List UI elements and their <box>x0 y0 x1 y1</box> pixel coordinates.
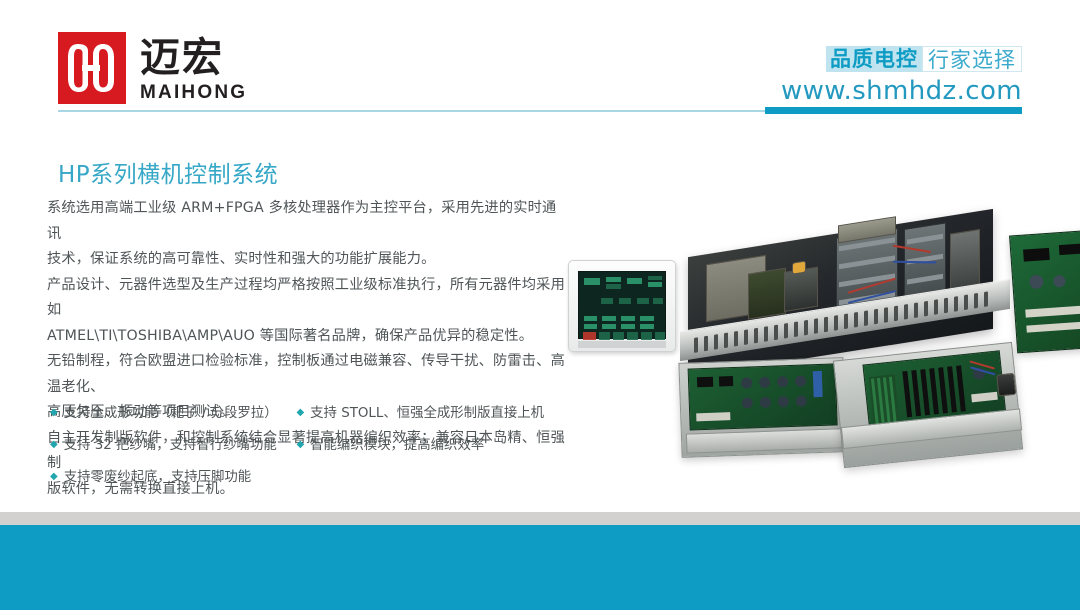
brand-logo: 迈宏 MAIHONG <box>58 32 247 104</box>
brand-tagline: 品质电控 行家选择 <box>781 46 1022 72</box>
feature-list: ◆支持全成形功能（耙子 / 分段罗拉） ◆支持 32 把纱嘴，支持智行纱嘴功能 … <box>50 397 570 493</box>
driver-board-module <box>678 357 846 458</box>
brand-logo-text: 迈宏 MAIHONG <box>140 32 247 104</box>
feature-label: 智能编织模块，提高编织效率 <box>310 438 484 453</box>
header-brand-banner: 品质电控 行家选择 www.shmhdz.com <box>781 46 1022 106</box>
feature-item: ◆支持 STOLL、恒强全成形制版直接上机 <box>296 397 566 429</box>
tagline-secondary: 行家选择 <box>922 46 1022 72</box>
feature-column-right: ◆支持 STOLL、恒强全成形制版直接上机 ◆智能编织模块，提高编织效率 <box>296 397 566 461</box>
diamond-bullet-icon: ◆ <box>50 471 58 482</box>
lcd-screen <box>578 271 666 339</box>
page-header: 迈宏 MAIHONG 品质电控 行家选择 www.shmhdz.com <box>0 0 1080 118</box>
feature-label: 支持零废纱起底，支持压脚功能 <box>64 470 251 485</box>
io-board-module <box>833 342 1023 468</box>
description-line: 技术，保证系统的高可靠性、实时性和强大的功能扩展能力。 <box>47 247 567 273</box>
diamond-bullet-icon: ◆ <box>50 439 58 450</box>
description-line: 系统选用高端工业级 ARM+FPGA 多核处理器作为主控平台，采用先进的实时通讯 <box>47 196 567 247</box>
page-title: HP系列横机控制系统 <box>58 155 278 189</box>
diamond-bullet-icon: ◆ <box>50 407 58 418</box>
feature-label: 支持全成形功能（耙子 / 分段罗拉） <box>64 406 278 421</box>
feature-label: 支持 32 把纱嘴，支持智行纱嘴功能 <box>64 438 277 453</box>
product-photo-group <box>555 185 1055 490</box>
hp-control-lcd-panel <box>568 260 676 352</box>
lcd-bezel-foot <box>578 341 666 348</box>
footer-divider <box>0 512 1080 525</box>
feature-item: ◆智能编织模块，提高编织效率 <box>296 429 566 461</box>
brand-name-en: MAIHONG <box>140 82 247 104</box>
io-board-module <box>1009 227 1080 354</box>
feature-column-left: ◆支持全成形功能（耙子 / 分段罗拉） ◆支持 32 把纱嘴，支持智行纱嘴功能 … <box>50 397 292 493</box>
feature-item: ◆支持零废纱起底，支持压脚功能 <box>50 461 292 493</box>
feature-item: ◆支持全成形功能（耙子 / 分段罗拉） <box>50 397 292 429</box>
diamond-bullet-icon: ◆ <box>296 407 304 418</box>
description-line: 产品设计、元器件选型及生产过程均严格按照工业级标准执行，所有元器件均采用如 <box>47 273 567 324</box>
feature-item: ◆支持 32 把纱嘴，支持智行纱嘴功能 <box>50 429 292 461</box>
brochure-page: 迈宏 MAIHONG 品质电控 行家选择 www.shmhdz.com HP系列… <box>0 0 1080 610</box>
feature-label: 支持 STOLL、恒强全成形制版直接上机 <box>310 406 544 421</box>
brand-name-cn: 迈宏 <box>140 36 247 80</box>
diamond-bullet-icon: ◆ <box>296 439 304 450</box>
tagline-primary: 品质电控 <box>826 46 922 72</box>
maihong-h-mark-icon <box>58 32 126 104</box>
description-line: ATMEL\TI\TOSHIBA\AMP\AUO 等国际著名品牌，确保产品优异的… <box>47 324 567 350</box>
page-footer: 苏州特点电子科技有限公司 SUZHOU TEDIAN ELECTRONIC TE… <box>0 525 1080 610</box>
description-line: 无铅制程，符合欧盟进口检验标准，控制板通过电磁兼容、传导干扰、防雷击、高温老化、 <box>47 349 567 400</box>
brand-website-url[interactable]: www.shmhdz.com <box>781 76 1022 106</box>
header-divider-accent <box>765 107 1022 114</box>
